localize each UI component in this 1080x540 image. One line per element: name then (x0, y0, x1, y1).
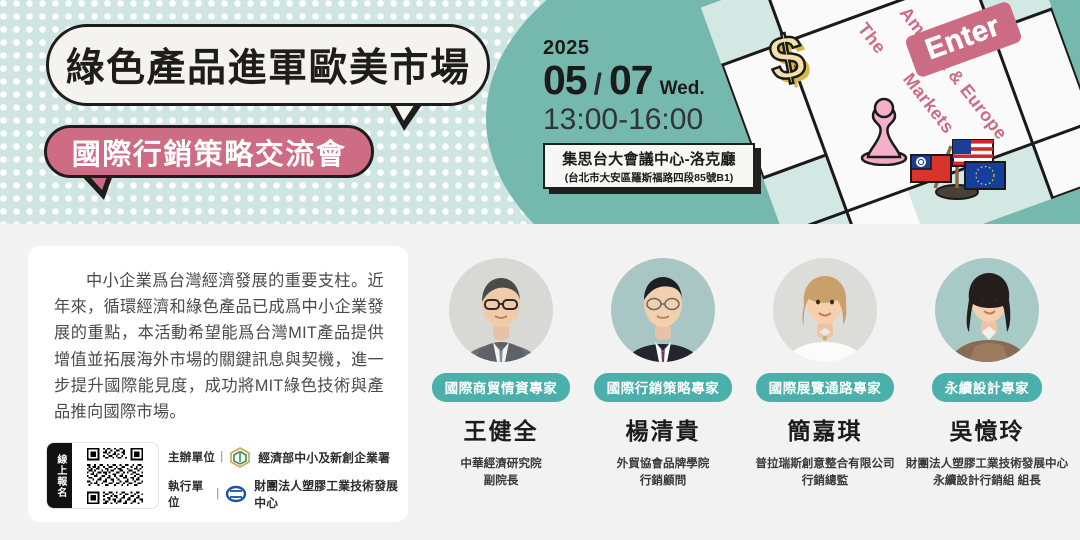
speaker-name: 吳憶玲 (950, 412, 1025, 446)
organizer-role: 執行單位 (168, 478, 211, 510)
speaker-affiliation-line2: 永續設計行銷組 組長 (906, 472, 1068, 489)
speakers-list: 國際商貿情資專家 王健全 中華經濟研究院 副院長 (420, 258, 1070, 490)
poster-root: $ (0, 0, 1080, 540)
page-subtitle: 國際行銷策略交流會 (72, 131, 347, 173)
event-day: 07 (609, 60, 653, 101)
speaker-affiliation: 財團法人塑膠工業技術發展中心 永續設計行銷組 組長 (906, 455, 1068, 490)
speaker-affiliation-line1: 普拉瑞斯創意整合有限公司 (755, 455, 894, 472)
venue-address: (台北市大安區羅斯福路四段85號B1) (565, 170, 734, 185)
speaker-affiliation-line1: 財團法人塑膠工業技術發展中心 (906, 455, 1068, 472)
organizer-name: 經濟部中小及新創企業署 (258, 449, 390, 466)
organizer-separator: | (216, 488, 219, 500)
avatar (611, 258, 715, 362)
speaker-card: 國際行銷策略專家 楊清貴 外貿協會品牌學院 行銷顧問 (582, 258, 744, 490)
speaker-affiliation-line1: 外貿協會品牌學院 (617, 455, 710, 472)
speaker-affiliation-line2: 副院長 (460, 472, 541, 489)
venue-name: 集思台大會議中心-洛克廳 (562, 148, 736, 169)
speaker-badge: 國際商貿情資專家 (432, 373, 571, 402)
event-time: 13:00-16:00 (543, 103, 793, 136)
organizer-separator: | (220, 451, 223, 463)
organizers-block: 主辦單位 | 經濟部中小及新創企業署 執行單位 | (168, 446, 408, 520)
date-separator: / (594, 70, 602, 100)
pidc-logo-icon (224, 483, 248, 505)
organizer-name: 財團法人塑膠工業技術發展中心 (254, 477, 408, 511)
speaker-affiliation: 中華經濟研究院 副院長 (460, 455, 541, 490)
qr-label: 線上報名 (47, 443, 72, 508)
speaker-badge: 國際展覽通路專家 (756, 373, 895, 402)
event-month: 05 (543, 60, 587, 101)
speaker-affiliation: 普拉瑞斯創意整合有限公司 行銷總監 (755, 455, 894, 490)
speaker-card: 國際展覽通路專家 簡嘉琪 普拉瑞斯創意整合有限公司 行銷總監 (744, 258, 906, 490)
avatar (449, 258, 553, 362)
event-weekday: Wed. (660, 79, 705, 98)
speaker-badge: 國際行銷策略專家 (594, 373, 733, 402)
speaker-affiliation-line2: 行銷總監 (755, 472, 894, 489)
event-title-bubble: 綠色產品進軍歐美市場 (46, 24, 490, 106)
intro-paragraph: 中小企業爲台灣經濟發展的重要支柱。近年來，循環經濟和綠色產品已成爲中小企業發展的… (54, 268, 384, 425)
organizer-role: 主辦單位 (168, 449, 215, 465)
event-date-block: 2025 05 / 07 Wed. 13:00-16:00 (543, 38, 793, 136)
speaker-badge: 永續設計專家 (932, 373, 1043, 402)
registration-qr-block[interactable]: 線上報名 (46, 442, 159, 509)
speaker-affiliation-line1: 中華經濟研究院 (460, 455, 541, 472)
organizer-row: 執行單位 | 財團法人塑膠工業技術發展中心 (168, 477, 408, 511)
page-title: 綠色產品進軍歐美市場 (65, 37, 470, 93)
moea-sme-logo-icon (228, 446, 252, 468)
speaker-card: 國際商貿情資專家 王健全 中華經濟研究院 副院長 (420, 258, 582, 490)
speaker-name: 王健全 (464, 412, 539, 446)
event-subtitle-bubble: 國際行銷策略交流會 (44, 125, 374, 178)
speaker-affiliation: 外貿協會品牌學院 行銷顧問 (617, 455, 710, 490)
venue-box: 集思台大會議中心-洛克廳 (台北市大安區羅斯福路四段85號B1) (543, 143, 755, 189)
header-banner: $ (0, 0, 1080, 224)
intro-card: 中小企業爲台灣經濟發展的重要支柱。近年來，循環經濟和綠色產品已成爲中小企業發展的… (28, 246, 408, 522)
speaker-name: 簡嘉琪 (788, 412, 863, 446)
speaker-card: 永續設計專家 吳憶玲 財團法人塑膠工業技術發展中心 永續設計行銷組 組長 (906, 258, 1068, 490)
event-date-row: 05 / 07 Wed. (543, 60, 793, 101)
event-year: 2025 (543, 38, 793, 59)
avatar (935, 258, 1039, 362)
speaker-affiliation-line2: 行銷顧問 (617, 472, 710, 489)
avatar (773, 258, 877, 362)
speaker-name: 楊清貴 (626, 412, 701, 446)
qr-code-icon[interactable] (72, 443, 158, 508)
organizer-row: 主辦單位 | 經濟部中小及新創企業署 (168, 446, 408, 468)
